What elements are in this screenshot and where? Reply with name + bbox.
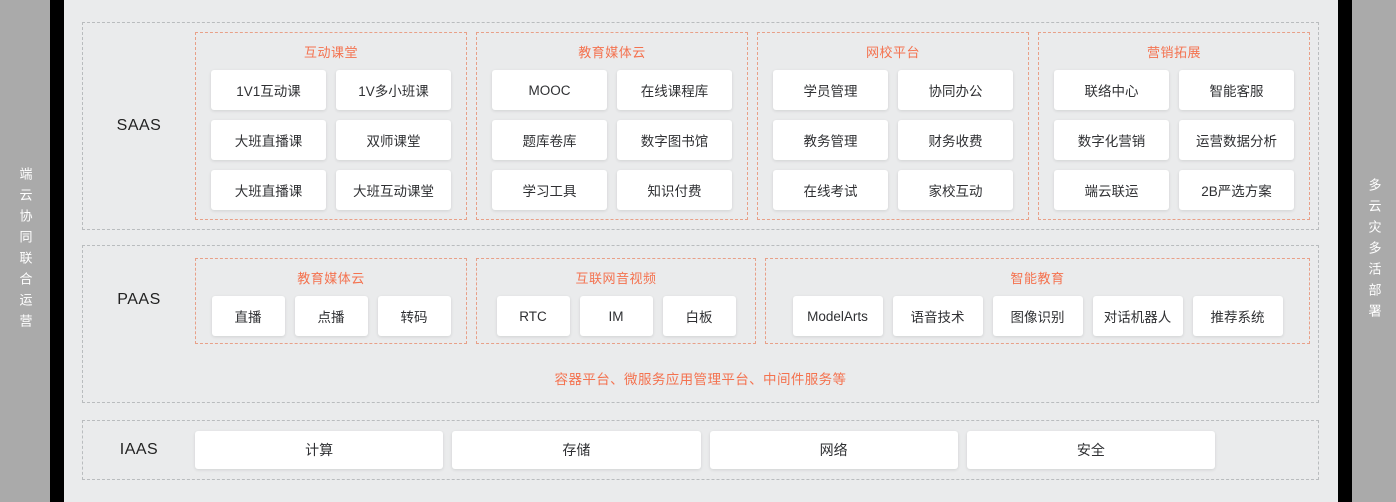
group-title: 智能教育 (1010, 272, 1064, 285)
right-rail: 多云灾多活部署 (1352, 0, 1396, 502)
service-card[interactable]: 2B严选方案 (1179, 170, 1294, 210)
service-card[interactable]: 转码 (378, 296, 451, 336)
group-title: 网校平台 (866, 46, 920, 59)
service-card[interactable]: 语音技术 (893, 296, 983, 336)
group-items: 1V1互动课 1V多小班课 大班直播课 双师课堂 大班直播课 大班互动课堂 (207, 70, 455, 210)
service-card[interactable]: RTC (497, 296, 570, 336)
service-card[interactable]: 智能客服 (1179, 70, 1294, 110)
service-card[interactable]: 计算 (195, 431, 443, 469)
service-card[interactable]: 对话机器人 (1093, 296, 1183, 336)
group-title: 互联网音视频 (575, 272, 656, 285)
service-card[interactable]: 运营数据分析 (1179, 120, 1294, 160)
service-card[interactable]: 端云联运 (1054, 170, 1169, 210)
group-items: MOOC 在线课程库 题库卷库 数字图书馆 学习工具 知识付费 (488, 70, 736, 210)
layer-saas: SAAS 互动课堂 1V1互动课 1V多小班课 大班直播课 双师课堂 大班直播课… (82, 22, 1319, 230)
group-interactive-classroom: 互动课堂 1V1互动课 1V多小班课 大班直播课 双师课堂 大班直播课 大班互动… (195, 32, 467, 220)
group-items: 直播 点播 转码 (212, 296, 451, 336)
service-card[interactable]: 大班直播课 (211, 120, 326, 160)
layer-label-paas: PAAS (83, 246, 195, 354)
group-online-school-platform: 网校平台 学员管理 协同办公 教务管理 财务收费 在线考试 家校互动 (757, 32, 1029, 220)
service-card[interactable]: 教务管理 (773, 120, 888, 160)
service-card[interactable]: 双师课堂 (336, 120, 451, 160)
architecture-diagram: 端云协同联合运营 多云灾多活部署 SAAS 互动课堂 1V1互动课 1V多小班课… (0, 0, 1396, 502)
saas-groups: 互动课堂 1V1互动课 1V多小班课 大班直播课 双师课堂 大班直播课 大班互动… (195, 23, 1318, 229)
service-card[interactable]: 数字图书馆 (617, 120, 732, 160)
service-card[interactable]: 推荐系统 (1193, 296, 1283, 336)
service-card[interactable]: 网络 (710, 431, 958, 469)
paas-footer-note: 容器平台、微服务应用管理平台、中间件服务等 (83, 354, 1318, 402)
service-card[interactable]: 图像识别 (993, 296, 1083, 336)
group-intelligent-education: 智能教育 ModelArts 语音技术 图像识别 对话机器人 推荐系统 (765, 258, 1310, 344)
left-rail: 端云协同联合运营 (0, 0, 50, 502)
service-card[interactable]: 财务收费 (898, 120, 1013, 160)
group-title: 教育媒体云 (578, 46, 646, 59)
service-card[interactable]: 数字化营销 (1054, 120, 1169, 160)
service-card[interactable]: 直播 (212, 296, 285, 336)
service-card[interactable]: 学员管理 (773, 70, 888, 110)
service-card[interactable]: 1V1互动课 (211, 70, 326, 110)
group-items: 学员管理 协同办公 教务管理 财务收费 在线考试 家校互动 (769, 70, 1017, 210)
service-card[interactable]: 白板 (663, 296, 736, 336)
group-title: 教育媒体云 (297, 272, 365, 285)
service-card[interactable]: 点播 (295, 296, 368, 336)
group-items: RTC IM 白板 (497, 296, 736, 336)
left-rail-divider (50, 0, 64, 502)
service-card[interactable]: 联络中心 (1054, 70, 1169, 110)
service-card[interactable]: 在线课程库 (617, 70, 732, 110)
service-card[interactable]: 大班互动课堂 (336, 170, 451, 210)
paas-row: PAAS 教育媒体云 直播 点播 转码 互联网音视频 RTC (83, 246, 1318, 354)
service-card[interactable]: 安全 (967, 431, 1215, 469)
layer-label-iaas: IAAS (83, 441, 195, 459)
group-title: 营销拓展 (1147, 46, 1201, 59)
layer-iaas: IAAS 计算 存储 网络 安全 (82, 420, 1319, 480)
service-card[interactable]: 家校互动 (898, 170, 1013, 210)
service-card[interactable]: 协同办公 (898, 70, 1013, 110)
iaas-items: 计算 存储 网络 安全 (195, 431, 1318, 469)
group-education-media-cloud: 教育媒体云 MOOC 在线课程库 题库卷库 数字图书馆 学习工具 知识付费 (476, 32, 748, 220)
right-rail-label: 多云灾多活部署 (1368, 178, 1381, 325)
group-internet-av: 互联网音视频 RTC IM 白板 (476, 258, 756, 344)
diagram-canvas: SAAS 互动课堂 1V1互动课 1V多小班课 大班直播课 双师课堂 大班直播课… (64, 0, 1337, 502)
service-card[interactable]: 学习工具 (492, 170, 607, 210)
layer-label-saas: SAAS (83, 23, 195, 229)
service-card[interactable]: 1V多小班课 (336, 70, 451, 110)
service-card[interactable]: 大班直播课 (211, 170, 326, 210)
service-card[interactable]: 知识付费 (617, 170, 732, 210)
service-card[interactable]: 在线考试 (773, 170, 888, 210)
group-items: ModelArts 语音技术 图像识别 对话机器人 推荐系统 (793, 296, 1283, 336)
group-title: 互动课堂 (304, 46, 358, 59)
service-card[interactable]: ModelArts (793, 296, 883, 336)
right-rail-divider (1338, 0, 1352, 502)
service-card[interactable]: MOOC (492, 70, 607, 110)
layer-paas: PAAS 教育媒体云 直播 点播 转码 互联网音视频 RTC (82, 245, 1319, 403)
group-marketing-expansion: 营销拓展 联络中心 智能客服 数字化营销 运营数据分析 端云联运 2B严选方案 (1038, 32, 1310, 220)
service-card[interactable]: IM (580, 296, 653, 336)
service-card[interactable]: 存储 (452, 431, 700, 469)
left-rail-label: 端云协同联合运营 (19, 167, 32, 335)
group-paas-education-media-cloud: 教育媒体云 直播 点播 转码 (195, 258, 467, 344)
paas-groups: 教育媒体云 直播 点播 转码 互联网音视频 RTC IM 白板 (195, 246, 1318, 354)
service-card[interactable]: 题库卷库 (492, 120, 607, 160)
group-items: 联络中心 智能客服 数字化营销 运营数据分析 端云联运 2B严选方案 (1050, 70, 1298, 210)
